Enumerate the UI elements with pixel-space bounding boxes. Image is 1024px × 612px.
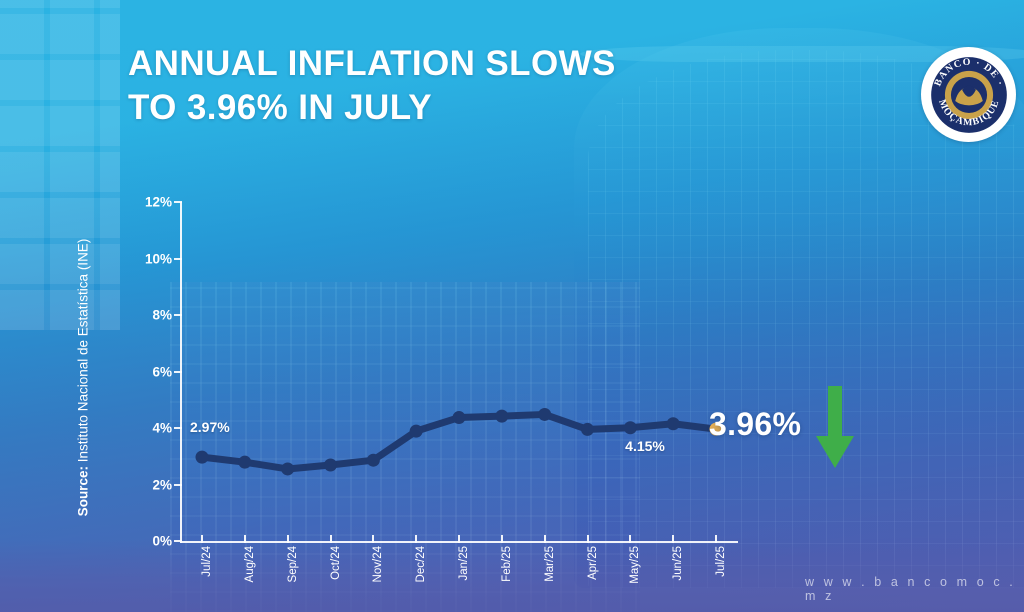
data-point	[281, 462, 294, 475]
x-axis-tick-label: Oct/24	[330, 546, 342, 580]
y-axis-tick-label: 10%	[145, 251, 172, 266]
infographic-canvas: ANNUAL INFLATION SLOWS TO 3.96% IN JULY …	[0, 0, 1024, 612]
data-point	[624, 421, 637, 434]
data-point	[238, 456, 251, 469]
data-point	[453, 411, 466, 424]
data-point	[581, 423, 594, 436]
x-axis-tick-label: Apr/25	[587, 546, 599, 580]
plot-area: 2.97%4.15%	[180, 190, 738, 542]
x-axis-tick-label: May/25	[629, 546, 641, 584]
y-axis-tick-label: 6%	[152, 364, 172, 379]
source-value: Instituto Nacional de Estatística (INE)	[76, 239, 91, 463]
x-axis-tick-label: Sep/24	[287, 546, 299, 582]
data-point	[196, 451, 209, 464]
inflation-line-chart: 0%2%4%6%8%10%12% 2.97%4.15% Jul/24Aug/24…	[130, 190, 730, 550]
page-title: ANNUAL INFLATION SLOWS TO 3.96% IN JULY	[128, 42, 728, 130]
x-axis-tick-label: Jul/24	[201, 546, 213, 577]
data-point	[410, 425, 423, 438]
data-point	[324, 459, 337, 472]
title-line-2: TO 3.96% IN JULY	[128, 86, 728, 130]
x-axis-tick-label: Feb/25	[501, 546, 513, 582]
banco-de-mocambique-logo: BANCO · DE · MOÇAMBIQUE	[921, 47, 1016, 142]
x-axis-tick-label: Aug/24	[244, 546, 256, 582]
x-axis-tick-label: Dec/24	[415, 546, 427, 582]
y-axis-tick-label: 2%	[152, 477, 172, 492]
x-axis-labels: Jul/24Aug/24Sep/24Oct/24Nov/24Dec/24Jan/…	[180, 546, 738, 606]
data-point	[367, 454, 380, 467]
headline-value: 3.96%	[709, 406, 801, 443]
y-axis-tick-label: 8%	[152, 308, 172, 323]
x-axis-tick-label: Jul/25	[715, 546, 727, 577]
data-point-label: 2.97%	[190, 419, 230, 435]
data-point-label: 4.15%	[625, 438, 665, 454]
y-axis-labels: 0%2%4%6%8%10%12%	[130, 190, 172, 542]
x-axis-tick-label: Jun/25	[672, 546, 684, 581]
source-note: Source: Instituto Nacional de Estatístic…	[76, 233, 91, 523]
y-axis-tick-label: 12%	[145, 195, 172, 210]
data-point	[538, 408, 551, 421]
series-line	[180, 190, 738, 542]
website-url: w w w . b a n c o m o c . m z	[805, 575, 1024, 603]
source-label: Source:	[76, 466, 91, 516]
x-axis-tick-label: Jan/25	[458, 546, 470, 581]
y-axis-tick-label: 4%	[152, 421, 172, 436]
data-point	[667, 417, 680, 430]
data-point	[495, 410, 508, 423]
logo-icon: BANCO · DE · MOÇAMBIQUE	[926, 52, 1012, 138]
title-line-1: ANNUAL INFLATION SLOWS	[128, 44, 616, 83]
x-axis-tick-label: Mar/25	[544, 546, 556, 582]
arrow-down-icon	[816, 386, 854, 468]
trend-down-arrow-icon	[816, 386, 854, 468]
y-axis-tick-label: 0%	[152, 534, 172, 549]
x-axis-tick-label: Nov/24	[372, 546, 384, 582]
